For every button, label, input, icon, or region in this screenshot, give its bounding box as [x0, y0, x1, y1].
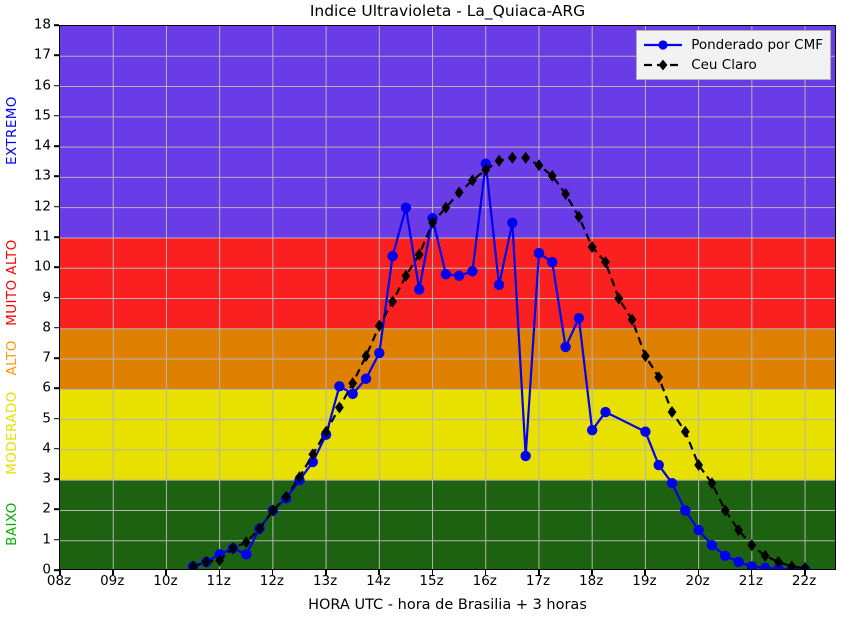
- x-tick-mark-20z: [698, 570, 700, 575]
- x-tick-mark-12z: [272, 570, 274, 575]
- x-tick-label-22z: 22z: [774, 575, 834, 589]
- x-axis-ticks: 08z09z10z11z12z13z14z15z16z17z18z19z20z2…: [0, 0, 849, 623]
- x-tick-mark-16z: [485, 570, 487, 575]
- x-tick-label-09z: 09z: [82, 575, 142, 589]
- x-tick-mark-09z: [112, 570, 114, 575]
- x-tick-label-14z: 14z: [348, 575, 408, 589]
- x-tick-mark-10z: [165, 570, 167, 575]
- x-tick-label-15z: 15z: [402, 575, 462, 589]
- x-tick-label-21z: 21z: [721, 575, 781, 589]
- x-tick-mark-19z: [644, 570, 646, 575]
- x-axis-label: HORA UTC - hora de Brasilia + 3 horas: [59, 597, 836, 613]
- x-tick-label-08z: 08z: [29, 575, 89, 589]
- x-tick-mark-15z: [432, 570, 434, 575]
- uv-category-label-muito-alto: MUITO ALTO: [0, 237, 24, 328]
- x-tick-label-20z: 20z: [668, 575, 728, 589]
- x-tick-label-19z: 19z: [614, 575, 674, 589]
- uv-category-label-moderado: MODERADO: [0, 388, 24, 479]
- x-tick-label-17z: 17z: [508, 575, 568, 589]
- x-tick-label-11z: 11z: [189, 575, 249, 589]
- x-tick-label-16z: 16z: [455, 575, 515, 589]
- x-tick-mark-11z: [219, 570, 221, 575]
- x-tick-label-18z: 18z: [561, 575, 621, 589]
- x-tick-mark-13z: [325, 570, 327, 575]
- x-tick-label-13z: 13z: [295, 575, 355, 589]
- x-tick-label-12z: 12z: [242, 575, 302, 589]
- x-tick-mark-17z: [538, 570, 540, 575]
- x-tick-mark-18z: [591, 570, 593, 575]
- x-tick-label-10z: 10z: [135, 575, 195, 589]
- x-tick-mark-21z: [751, 570, 753, 575]
- x-tick-mark-08z: [59, 570, 61, 575]
- uv-category-label-extremo: EXTREMO: [0, 25, 24, 237]
- x-tick-mark-14z: [378, 570, 380, 575]
- uv-category-label-baixo: BAIXO: [0, 479, 24, 570]
- x-tick-mark-22z: [804, 570, 806, 575]
- uv-index-chart-figure: Indice Ultravioleta - La_Quiaca-ARG Pond…: [0, 0, 849, 623]
- uv-category-label-alto: ALTO: [0, 328, 24, 389]
